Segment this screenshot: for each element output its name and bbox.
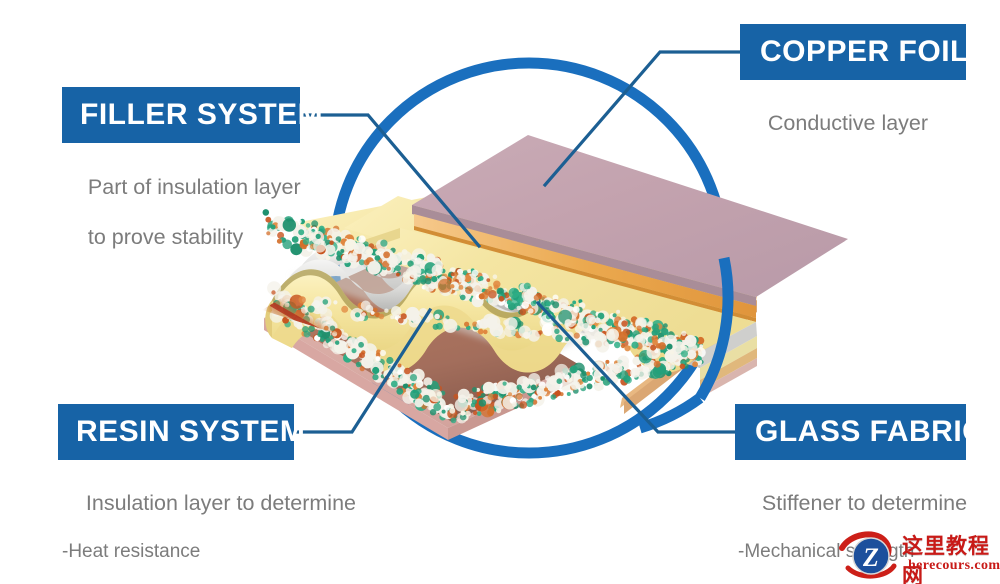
- caption-copper-foil: Conductive layer: [744, 86, 994, 161]
- caption-glass-line1: Stiffener to determine: [762, 491, 967, 515]
- caption-filler-line2: to prove stability: [88, 225, 243, 249]
- label-copper-foil[interactable]: COPPER FOIL: [740, 24, 966, 80]
- label-filler-system-text: FILLER SYSTEM: [80, 100, 323, 130]
- caption-filler-line1: Part of insulation layer: [88, 175, 301, 199]
- caption-glass-bullet-0: -Mechanical strength: [738, 541, 998, 564]
- label-glass-fabric[interactable]: GLASS FABRIC: [735, 404, 966, 460]
- caption-filler-system: Part of insulation layer to prove stabil…: [64, 150, 384, 275]
- label-glass-fabric-text: GLASS FABRIC: [755, 417, 984, 447]
- label-filler-system[interactable]: FILLER SYSTEM: [62, 87, 300, 143]
- label-copper-foil-text: COPPER FOIL: [760, 37, 969, 67]
- label-resin-system-text: RESIN SYSTEM: [76, 417, 305, 447]
- caption-resin-line1: Insulation layer to determine: [86, 491, 356, 515]
- caption-resin-system: Insulation layer to determine -Heat resi…: [62, 466, 462, 584]
- label-resin-system[interactable]: RESIN SYSTEM: [58, 404, 294, 460]
- caption-resin-bullet-0: -Heat resistance: [62, 541, 462, 564]
- caption-copper-line1: Conductive layer: [768, 111, 928, 135]
- caption-glass-fabric: Stiffener to determine -Mechanical stren…: [738, 466, 998, 584]
- diagram-canvas: FILLER SYSTEM Part of insulation layer t…: [0, 0, 1000, 584]
